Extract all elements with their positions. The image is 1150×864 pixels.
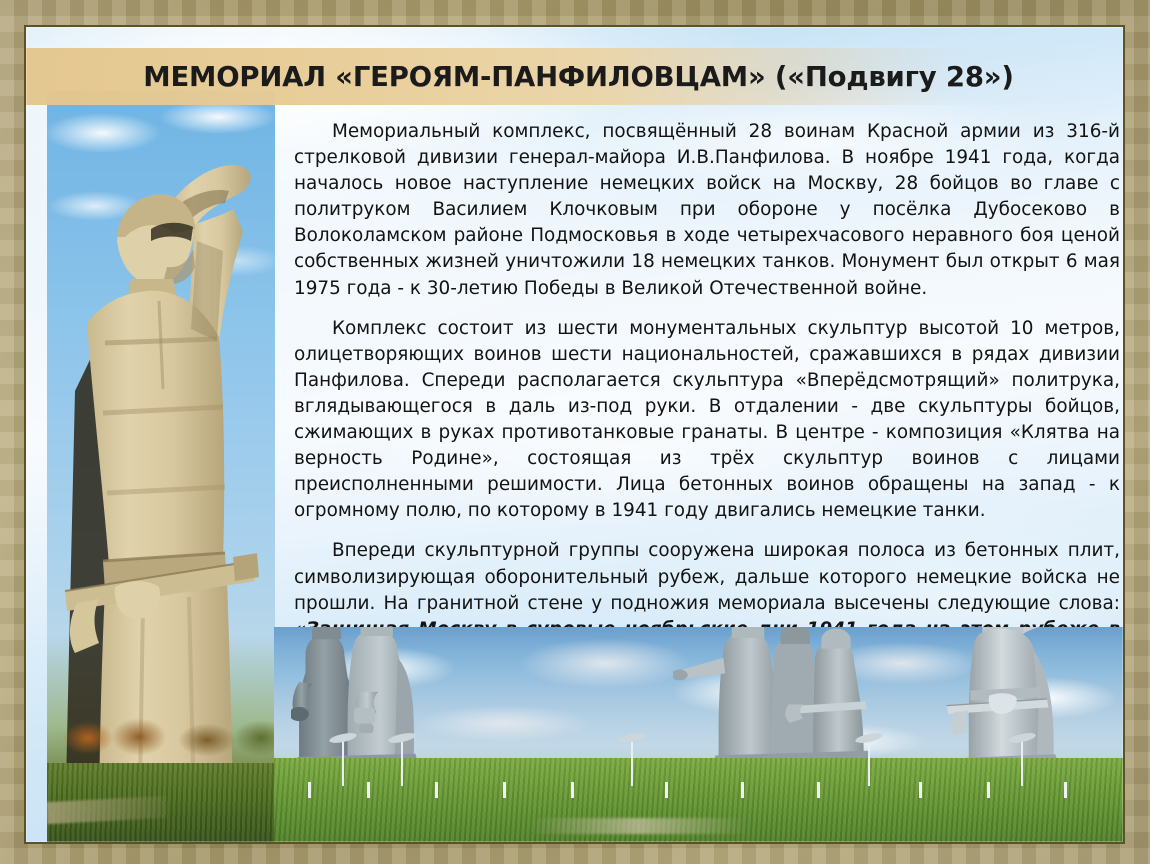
bollard [308,782,311,798]
bollard [1064,782,1067,798]
bollard [919,782,922,798]
lamp-post [631,740,633,786]
paragraph-1: Мемориальный комплекс, посвящённый 28 во… [294,119,1120,302]
bollard [741,782,744,798]
lamp-post [868,740,870,786]
bollard [817,782,820,798]
bollard [367,782,370,798]
slide-outer-frame: МЕМОРИАЛ «ГЕРОЯМ-ПАНФИЛОВЦАМ» («Подвигу … [0,0,1150,864]
autumn-treeline [47,705,275,771]
lamp-post [342,740,344,786]
concrete-walkway [529,818,750,834]
bollard [571,782,574,798]
paragraph-2: Комплекс состоит из шести монументальных… [294,316,1120,525]
page-title: МЕМОРИАЛ «ГЕРОЯМ-ПАНФИЛОВЦАМ» («Подвигу … [143,61,1013,93]
bollard [503,782,506,798]
article-body: Мемориальный комплекс, посвящённый 28 во… [294,119,1120,695]
bollard [987,782,990,798]
statue-photo-vperyodsmotryashchiy [47,91,275,844]
bollard [435,782,438,798]
bollard [665,782,668,798]
slide-canvas: МЕМОРИАЛ «ГЕРОЯМ-ПАНФИЛОВЦАМ» («Подвигу … [24,25,1125,844]
lamp-post [401,740,403,786]
lamp-post [1021,740,1023,786]
memorial-panorama-photo [274,627,1123,842]
slide-title-bar: МЕМОРИАЛ «ГЕРОЯМ-ПАНФИЛОВЦАМ» («Подвигу … [26,48,1123,105]
paragraph-3-lead: Впереди скульптурной группы сооружена ши… [294,540,1120,613]
